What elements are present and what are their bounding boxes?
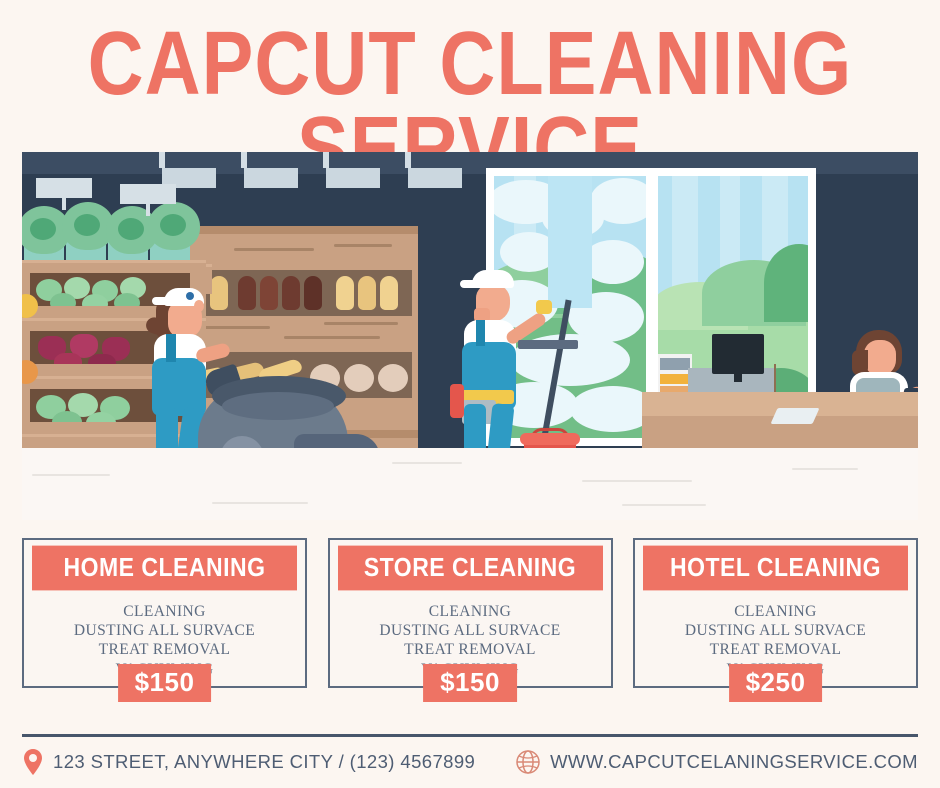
card-feature: CLEANING bbox=[32, 602, 297, 621]
card-price-badge: $150 bbox=[118, 664, 212, 702]
produce-price-sign bbox=[36, 178, 92, 198]
pricing-card-home[interactable]: HOME CLEANING CLEANING DUSTING ALL SURVA… bbox=[22, 538, 307, 688]
card-feature: TREAT REMOVAL bbox=[32, 640, 297, 659]
pricing-card-hotel[interactable]: HOTEL CLEANING CLEANING DUSTING ALL SURV… bbox=[633, 538, 918, 688]
card-feature: DUSTING ALL SURVACE bbox=[32, 621, 297, 640]
card-title: STORE CLEANING bbox=[338, 546, 603, 591]
monitor-icon bbox=[712, 334, 764, 374]
address-text: 123 STREET, ANYWHERE CITY / (123) 456789… bbox=[53, 751, 475, 773]
footer-website[interactable]: WWW.CAPCUTCELANINGSERVICE.COM bbox=[515, 749, 918, 775]
map-pin-icon bbox=[22, 748, 44, 776]
squeegee-blade bbox=[518, 340, 578, 349]
hero-illustration bbox=[22, 152, 918, 520]
card-feature: DUSTING ALL SURVACE bbox=[338, 621, 603, 640]
pricing-card-store[interactable]: STORE CLEANING CLEANING DUSTING ALL SURV… bbox=[328, 538, 613, 688]
website-text: WWW.CAPCUTCELANINGSERVICE.COM bbox=[550, 751, 918, 773]
card-feature: TREAT REMOVAL bbox=[643, 640, 908, 659]
card-feature: CLEANING bbox=[643, 602, 908, 621]
produce-apples bbox=[22, 294, 40, 324]
pricing-cards: HOME CLEANING CLEANING DUSTING ALL SURVA… bbox=[22, 538, 918, 688]
poster-root: CAPCUT CLEANING SERVICE COME HOME TO CLE… bbox=[0, 0, 940, 788]
card-feature: CLEANING bbox=[338, 602, 603, 621]
produce-price-sign bbox=[120, 184, 176, 204]
globe-icon bbox=[515, 749, 541, 775]
footer-address[interactable]: 123 STREET, ANYWHERE CITY / (123) 456789… bbox=[22, 748, 475, 776]
cap-icon bbox=[472, 270, 514, 288]
card-title: HOME CLEANING bbox=[32, 546, 297, 591]
produce-greens bbox=[22, 200, 216, 264]
store-floor bbox=[22, 448, 918, 520]
tablet-icon bbox=[770, 408, 819, 424]
cleaned-glass-streak bbox=[548, 176, 592, 308]
card-title: HOTEL CLEANING bbox=[643, 546, 908, 591]
produce-apples bbox=[22, 360, 40, 390]
card-feature: TREAT REMOVAL bbox=[338, 640, 603, 659]
card-price-badge: $250 bbox=[729, 664, 823, 702]
poster-footer: 123 STREET, ANYWHERE CITY / (123) 456789… bbox=[22, 748, 918, 776]
card-feature: DUSTING ALL SURVACE bbox=[643, 621, 908, 640]
card-price-badge: $150 bbox=[423, 664, 517, 702]
glove-icon bbox=[536, 300, 552, 314]
footer-divider bbox=[22, 734, 918, 737]
spray-bottle-icon bbox=[450, 384, 464, 418]
